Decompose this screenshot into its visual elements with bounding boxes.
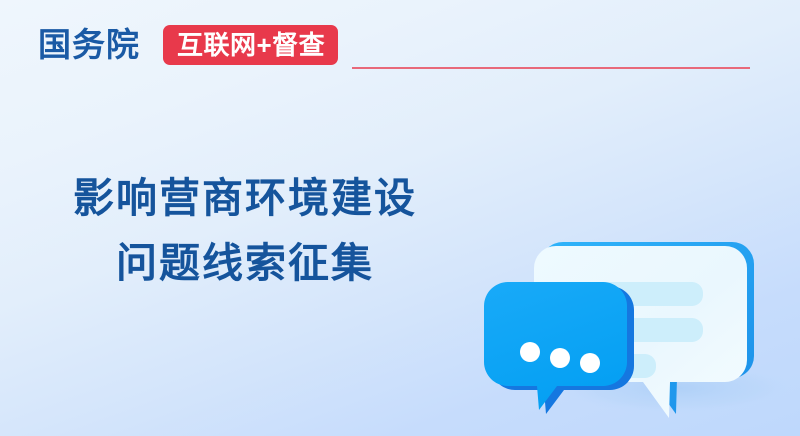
promo-banner: 国务院 互联网+督查 影响营商环境建设 问题线索征集 bbox=[0, 0, 800, 436]
page-title-line-1: 影响营商环境建设 bbox=[0, 166, 490, 231]
typing-dot bbox=[580, 353, 600, 373]
speech-bubbles-illustration bbox=[480, 218, 800, 436]
organization-name: 国务院 bbox=[38, 26, 140, 64]
banner-header: 国务院 互联网+督查 bbox=[0, 0, 800, 78]
header-divider bbox=[352, 67, 750, 69]
typing-dot bbox=[520, 342, 540, 362]
page-title-line-2: 问题线索征集 bbox=[0, 231, 490, 296]
page-title: 影响营商环境建设 问题线索征集 bbox=[0, 166, 490, 296]
typing-dot bbox=[550, 348, 570, 368]
program-badge: 互联网+督查 bbox=[163, 25, 338, 65]
